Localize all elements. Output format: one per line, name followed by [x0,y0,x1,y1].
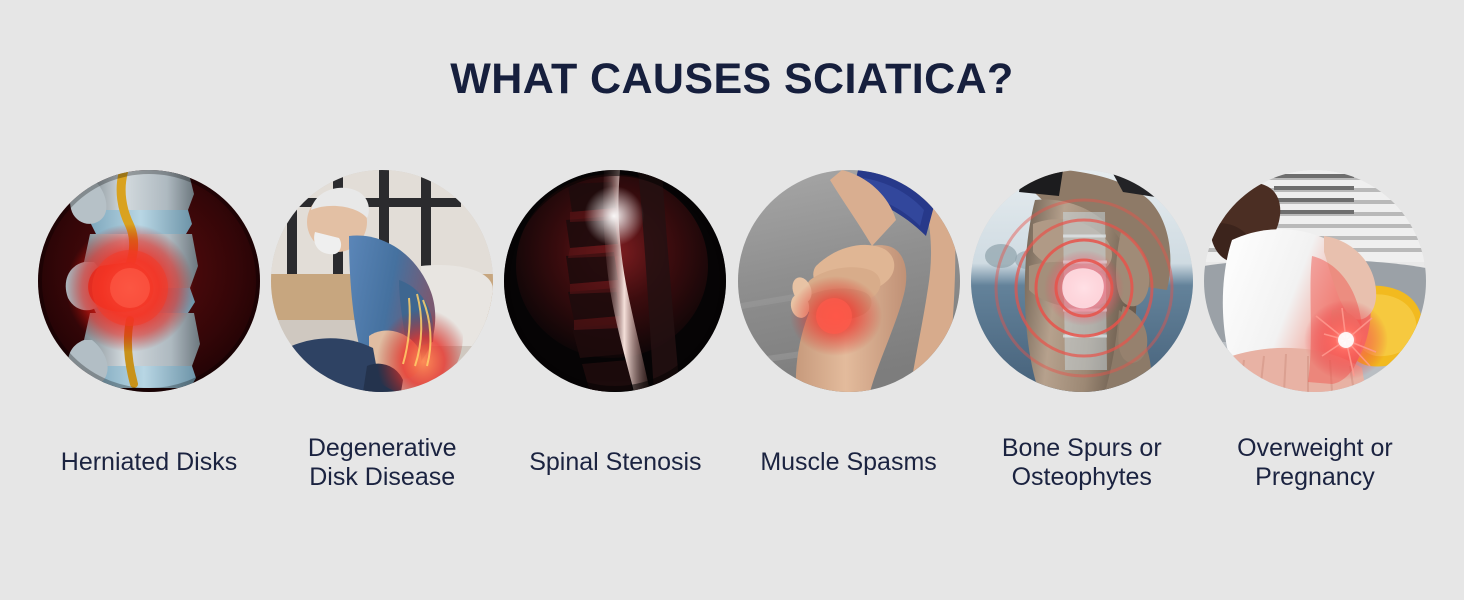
cause-label-spinal-stenosis: Spinal Stenosis [529,448,701,477]
causes-row: Herniated Disks [36,170,1428,492]
lumbar-mri-scan-image [504,170,726,392]
herniated-disk-spine-model-image [38,170,260,392]
cause-item-muscle-spasms[interactable]: Muscle Spasms [736,170,962,477]
woman-lower-back-pain-image [1204,170,1426,392]
cause-label-overweight-pregnancy: Overweight or Pregnancy [1237,434,1393,492]
cause-item-spinal-stenosis[interactable]: Spinal Stenosis [502,170,728,477]
cause-item-degenerative-disk-disease[interactable]: Degenerative Disk Disease [269,170,495,492]
cause-item-overweight-pregnancy[interactable]: Overweight or Pregnancy [1202,170,1428,492]
cause-item-herniated-disks[interactable]: Herniated Disks [36,170,262,477]
sciatica-causes-infographic: WHAT CAUSES SCIATICA? [0,0,1464,600]
knee-joint-pain-target-image [971,170,1193,392]
page-title: WHAT CAUSES SCIATICA? [0,56,1464,103]
elderly-man-back-pain-image [271,170,493,392]
cause-label-degenerative-disk-disease: Degenerative Disk Disease [308,434,457,492]
cause-item-bone-spurs-osteophytes[interactable]: Bone Spurs or Osteophytes [969,170,1195,492]
cause-label-muscle-spasms: Muscle Spasms [760,448,936,477]
cause-label-herniated-disks: Herniated Disks [61,448,237,477]
cause-label-bone-spurs-osteophytes: Bone Spurs or Osteophytes [1002,434,1162,492]
calf-muscle-cramp-image [738,170,960,392]
